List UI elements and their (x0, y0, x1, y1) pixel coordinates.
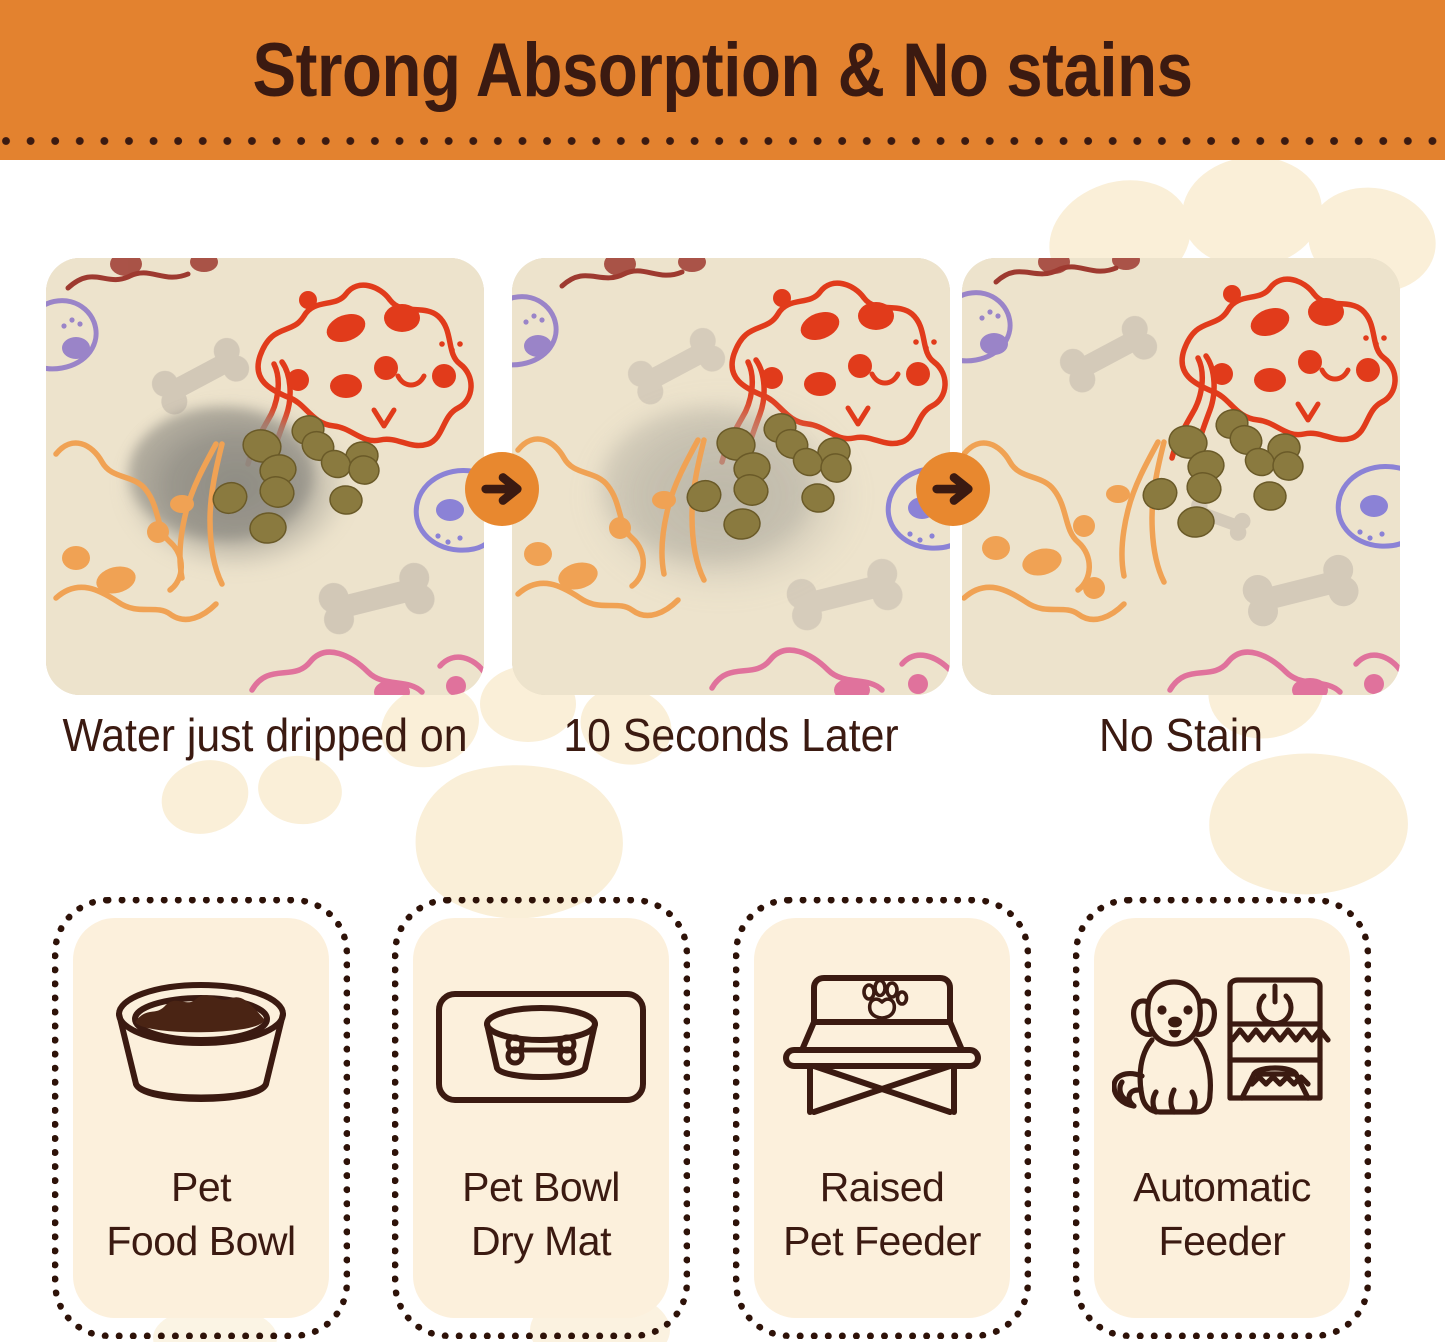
use-case-card-automatic-feeder[interactable]: Automatic Feeder (1073, 897, 1371, 1339)
mat-photo-dry (962, 258, 1400, 695)
mat-photo-wet (46, 258, 484, 695)
use-case-card-list: Pet Food Bowl (0, 890, 1445, 1342)
automatic-feeder-icon-glyph (1112, 952, 1332, 1142)
card-inner: Pet Food Bowl (73, 918, 329, 1318)
card-inner: Automatic Feeder (1094, 918, 1350, 1318)
arrow-right-icon-2 (916, 452, 990, 526)
mat-photo-absorbing (512, 258, 950, 695)
use-case-card-pet-food-bowl[interactable]: Pet Food Bowl (52, 897, 350, 1339)
pet-bowl-dry-mat-icon (431, 952, 651, 1142)
raised-pet-feeder-icon-glyph (772, 952, 992, 1142)
raised-pet-feeder-icon (772, 952, 992, 1142)
absorption-demo-strip: Water just dripped on 10 Seconds Later N… (0, 0, 1445, 830)
demo-step-2-caption: 10 Seconds Later (527, 707, 934, 764)
use-case-card-label: Pet Food Bowl (106, 1160, 295, 1268)
pet-bowl-dry-mat-icon-glyph (431, 952, 651, 1142)
use-case-card-label: Automatic Feeder (1133, 1160, 1311, 1268)
demo-step-1 (46, 258, 484, 695)
pet-food-bowl-icon-glyph (91, 952, 311, 1142)
use-case-card-label: Raised Pet Feeder (783, 1160, 981, 1268)
mat-photo-dry-image (962, 258, 1400, 695)
use-case-card-raised-pet-feeder[interactable]: Raised Pet Feeder (733, 897, 1031, 1339)
use-case-card-label: Pet Bowl Dry Mat (462, 1160, 620, 1268)
demo-step-2 (512, 258, 950, 695)
card-inner: Pet Bowl Dry Mat (413, 918, 669, 1318)
mat-photo-wet-image (46, 258, 484, 695)
card-inner: Raised Pet Feeder (754, 918, 1010, 1318)
arrow-right-icon (930, 466, 976, 512)
demo-step-1-caption: Water just dripped on (61, 707, 468, 764)
mat-photo-absorbing-image (512, 258, 950, 695)
use-case-card-pet-bowl-dry-mat[interactable]: Pet Bowl Dry Mat (392, 897, 690, 1339)
demo-step-3 (962, 258, 1400, 695)
demo-step-3-caption: No Stain (977, 707, 1384, 764)
arrow-right-icon (479, 466, 525, 512)
pet-food-bowl-icon (91, 952, 311, 1142)
arrow-right-icon-1 (465, 452, 539, 526)
automatic-feeder-icon (1112, 952, 1332, 1142)
